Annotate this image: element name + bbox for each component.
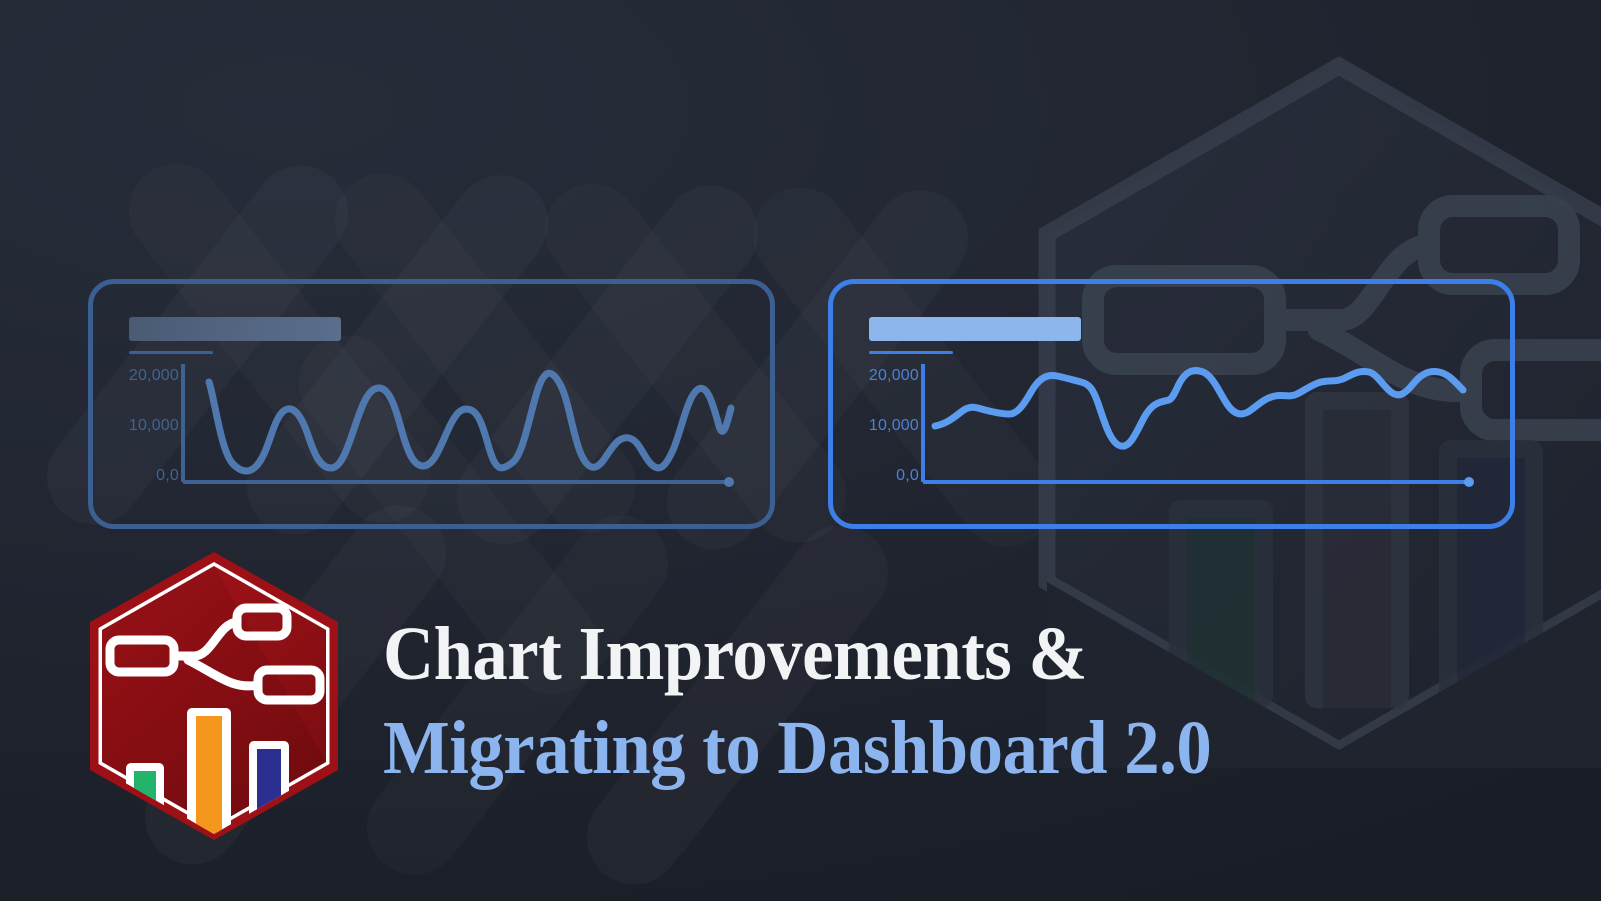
logo-green-bar — [134, 771, 156, 844]
panel-title-placeholder — [129, 317, 341, 341]
chart-card-after[interactable]: 20,000 10,000 0,0 — [828, 279, 1515, 529]
plot-area-before — [181, 364, 741, 486]
y-tick-20000: 20,000 — [113, 368, 179, 418]
y-tick-10000: 10,000 — [113, 418, 179, 468]
panel-title-underline — [129, 351, 213, 354]
x-axis-end-dot — [1464, 477, 1474, 487]
y-tick-20000: 20,000 — [853, 368, 919, 418]
logo-orange-bar — [196, 716, 222, 844]
series-line-before — [209, 373, 731, 471]
y-axis-labels-before: 20,000 10,000 0,0 — [113, 368, 179, 518]
y-tick-0: 0,0 — [113, 468, 179, 518]
line-chart-before — [181, 364, 741, 486]
headline: Chart Improvements & Migrating to Dashbo… — [383, 607, 1503, 795]
panel-title-placeholder — [869, 317, 1081, 341]
grafana-hexagon-logo — [82, 548, 346, 844]
plot-area-after — [921, 364, 1481, 486]
logo-blue-bar — [257, 749, 281, 844]
x-axis-end-dot — [724, 477, 734, 487]
headline-line-2: Migrating to Dashboard 2.0 — [383, 701, 1425, 795]
promo-banner: 20,000 10,000 0,0 20,000 10,000 0,0 — [0, 0, 1601, 901]
chart-card-before[interactable]: 20,000 10,000 0,0 — [88, 279, 775, 529]
y-tick-10000: 10,000 — [853, 418, 919, 468]
y-axis-labels-after: 20,000 10,000 0,0 — [853, 368, 919, 518]
headline-line-1: Chart Improvements & — [383, 607, 1425, 701]
series-line-after — [935, 371, 1463, 447]
y-tick-0: 0,0 — [853, 468, 919, 518]
line-chart-after — [921, 364, 1481, 486]
panel-title-underline — [869, 351, 953, 354]
